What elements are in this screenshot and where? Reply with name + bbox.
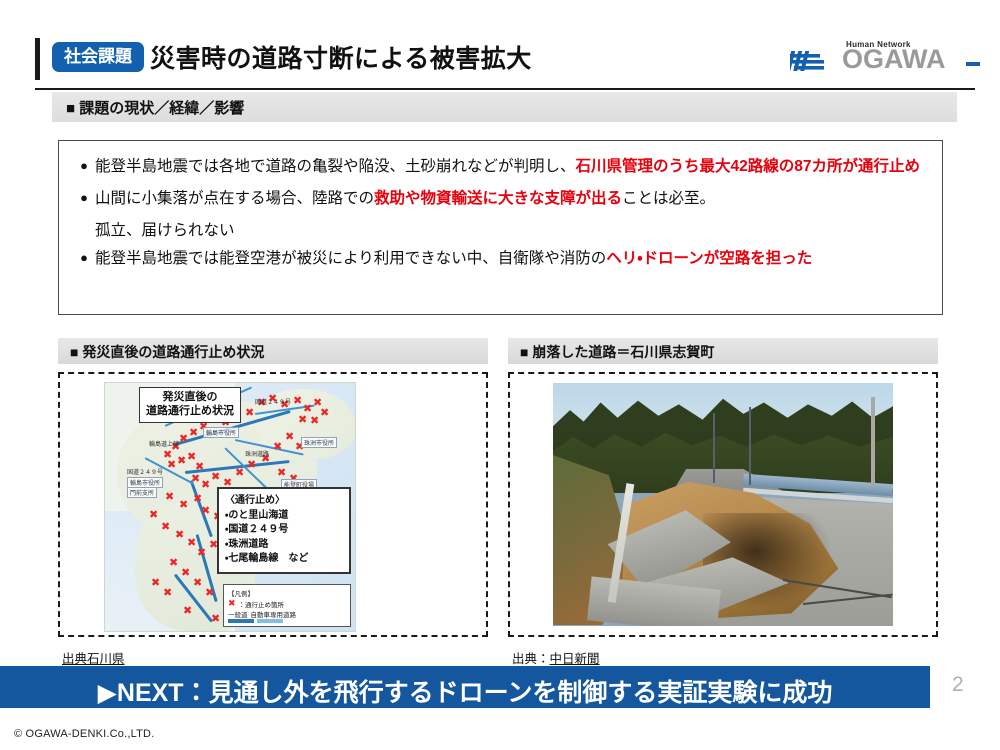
company-logo: Human Network OGAWA xyxy=(790,40,980,80)
logo-wordmark: OGAWA xyxy=(842,46,946,73)
map-legend-item: ・のと里山海道 xyxy=(225,509,343,524)
photo-utility-pole xyxy=(713,413,715,483)
map-title-line-2: 道路通行止め状況 xyxy=(146,405,234,419)
slide-header: 社会課題 災害時の道路寸断による被害拡大 Human Network OGAWA xyxy=(0,18,1000,74)
list-item: ● 山間に小集落が点在する場合、陸路での救助や物資輸送に大きな支障が出ることは必… xyxy=(73,185,933,213)
map-key-title: 【凡例】 xyxy=(228,588,346,598)
map-legend-title: 〈通行止め〉 xyxy=(225,494,343,509)
map-closure-marker xyxy=(205,589,214,598)
map-legend-item: ・珠洲道路 xyxy=(225,538,343,553)
map-closure-marker xyxy=(201,507,210,516)
header-category-badge: 社会課題 xyxy=(52,42,144,72)
map-closure-marker xyxy=(277,469,286,478)
map-closure-marker xyxy=(175,531,184,540)
map-closure-marker xyxy=(165,493,174,502)
right-panel-heading-text: ■ 崩落した道路＝石川県志賀町 xyxy=(520,342,714,362)
map-key-road-label-1: 一般道 xyxy=(228,609,248,619)
map-place-label: 珠洲市役所 xyxy=(301,437,337,448)
right-panel-heading-bar: ■ 崩落した道路＝石川県志賀町 xyxy=(508,338,938,364)
map-closure-marker xyxy=(181,569,190,578)
map-closure-marker xyxy=(193,579,202,588)
road-swatch-general-icon xyxy=(228,619,254,623)
map-route-label: 国道２４９号 xyxy=(255,397,291,406)
map-closure-marker xyxy=(179,435,188,444)
right-source-prefix: 出典： xyxy=(512,652,550,666)
bullet-marker: ● xyxy=(73,245,95,271)
photo-utility-pole xyxy=(749,407,751,485)
map-closure-marker xyxy=(303,405,312,414)
map-place-label: 門前支所 xyxy=(127,487,157,498)
right-image-frame xyxy=(508,372,938,637)
map-title-box: 発災直後の 道路通行止め状況 xyxy=(139,387,241,423)
collapsed-road-photo xyxy=(553,383,893,626)
bullet-text: 能登半島地震では能登空港が被災により利用できない中、自衛隊や消防のヘリ・ドローン… xyxy=(95,245,812,273)
header-accent-bar xyxy=(35,38,40,80)
map-closure-marker xyxy=(195,463,204,472)
map-closure-marker xyxy=(187,539,196,548)
map-closure-marker xyxy=(235,469,244,478)
bullet-text: 能登半島地震では各地で道路の亀裂や陥没、土砂崩れなどが判明し、石川県管理のうち最… xyxy=(95,153,920,181)
map-key-box: 【凡例】 ✖ ：通行止め箇所 一般道 自動車専用道路 xyxy=(223,584,351,627)
road-swatch-expressway-icon xyxy=(257,619,283,623)
next-banner-text: ▶NEXT：見通し外を飛行するドローンを制御する実証実験に成功 xyxy=(0,673,930,709)
map-route-label: 輪島道上線 xyxy=(149,439,179,448)
map-closure-marker xyxy=(167,461,176,470)
section-heading-text: ■ 課題の現状／経緯／影響 xyxy=(66,97,244,118)
right-source-caption: 出典：中日新聞 xyxy=(512,648,600,667)
bullet-marker: ● xyxy=(73,153,95,179)
bullet-continuation-text: 孤立、届けられない xyxy=(95,217,933,245)
photo-utility-pole xyxy=(871,397,875,487)
right-source-name: 中日新聞 xyxy=(550,652,600,666)
map-legend-item: ・七尾輪島線 など xyxy=(225,552,343,567)
map-closure-legend-box: 〈通行止め〉 ・のと里山海道 ・国道２４９号 ・珠洲道路 ・七尾輪島線 など xyxy=(217,487,351,574)
left-image-frame: 発災直後の 道路通行止め状況 輪島市役所 珠洲市役所 能登町役場 穴水町役場 輪… xyxy=(58,372,488,637)
map-closure-marker xyxy=(151,579,160,588)
map-closure-marker xyxy=(273,443,282,452)
left-source-text: 出典石川県 xyxy=(62,652,125,666)
map-closure-marker xyxy=(169,559,178,568)
next-banner: ▶NEXT：見通し外を飛行するドローンを制御する実証実験に成功 xyxy=(0,666,930,708)
left-panel: ■ 発災直後の道路通行止め状況 xyxy=(58,338,488,364)
map-closure-marker xyxy=(320,409,329,418)
bullet-segment-normal: 能登半島地震では能登空港が被災により利用できない中、自衛隊や消防の xyxy=(95,250,606,267)
map-closure-marker xyxy=(177,457,186,466)
bullet-segment-normal: 能登半島地震では各地で道路の亀裂や陥没、土砂崩れなどが判明し、 xyxy=(95,158,576,175)
header-divider xyxy=(35,88,975,90)
logo-dash-accent xyxy=(966,62,980,66)
bullet-segment-highlight: ヘリ・ドローンが空路を担った xyxy=(606,250,812,267)
map-route-label: 珠洲道路 xyxy=(245,449,269,458)
section-heading-bar: ■ 課題の現状／経緯／影響 xyxy=(52,92,957,122)
map-place-label: 輪島市役所 xyxy=(203,427,239,438)
bullet-segment-highlight: 石川県管理のうち最大42路線の87カ所が通行止め xyxy=(576,158,920,175)
map-closure-marker xyxy=(211,473,220,482)
map-closure-marker xyxy=(285,433,294,442)
map-closure-marker xyxy=(298,416,307,425)
map-closure-marker xyxy=(191,475,200,484)
bullet-segment-highlight: 救助や物資輸送に大きな支障が出る xyxy=(374,190,622,207)
bullet-segment-normal: 山間に小集落が点在する場合、陸路での xyxy=(95,190,374,207)
left-panel-heading-bar: ■ 発災直後の道路通行止め状況 xyxy=(58,338,488,364)
map-closure-marker xyxy=(211,615,220,624)
issue-summary-box: ● 能登半島地震では各地で道路の亀裂や陥没、土砂崩れなどが判明し、石川県管理のう… xyxy=(58,140,943,315)
copyright-text: © OGAWA-DENKI.Co.,LTD. xyxy=(14,728,154,740)
map-closure-marker xyxy=(179,501,188,510)
map-closure-marker xyxy=(163,589,172,598)
bullet-list: ● 能登半島地震では各地で道路の亀裂や陥没、土砂崩れなどが判明し、石川県管理のう… xyxy=(73,153,933,277)
list-item: ● 能登半島地震では各地で道路の亀裂や陥没、土砂崩れなどが判明し、石川県管理のう… xyxy=(73,153,933,181)
map-key-swatches xyxy=(228,619,346,623)
right-panel: ■ 崩落した道路＝石川県志賀町 xyxy=(508,338,938,364)
page-title: 災害時の道路寸断による被害拡大 xyxy=(150,39,532,75)
left-panel-heading-text: ■ 発災直後の道路通行止め状況 xyxy=(70,342,264,362)
map-closure-marker xyxy=(247,461,256,470)
ogawa-logo-mark xyxy=(790,48,832,74)
map-closure-marker xyxy=(201,481,210,490)
map-key-row-closure: ✖ ：通行止め箇所 xyxy=(228,598,346,609)
map-key-closure-label: ：通行止め箇所 xyxy=(239,599,285,609)
list-item: ● 能登半島地震では能登空港が被災により利用できない中、自衛隊や消防のヘリ・ドロ… xyxy=(73,245,933,273)
map-closure-marker xyxy=(149,511,158,520)
map-closure-marker xyxy=(310,417,319,426)
left-source-caption: 出典石川県 xyxy=(62,648,125,667)
road-closure-map-image: 発災直後の 道路通行止め状況 輪島市役所 珠洲市役所 能登町役場 穴水町役場 輪… xyxy=(104,382,356,632)
bullet-text: 山間に小集落が点在する場合、陸路での救助や物資輸送に大きな支障が出ることは必至。 xyxy=(95,185,715,213)
page-number: 2 xyxy=(952,673,964,697)
map-key-row-roads: 一般道 自動車専用道路 xyxy=(228,609,346,619)
map-closure-marker xyxy=(193,495,202,504)
map-closure-marker xyxy=(197,549,206,558)
bullet-marker: ● xyxy=(73,185,95,211)
slide: 社会課題 災害時の道路寸断による被害拡大 Human Network OGAWA… xyxy=(0,0,1000,750)
map-key-road-label-2: 自動車専用道路 xyxy=(251,609,297,619)
map-closure-marker xyxy=(245,409,254,418)
map-closure-marker xyxy=(189,429,198,438)
map-closure-marker xyxy=(293,397,302,406)
map-closure-marker xyxy=(161,523,170,532)
map-legend-item: ・国道２４９号 xyxy=(225,523,343,538)
bullet-segment-normal-tail: ことは必至。 xyxy=(622,190,715,207)
map-closure-marker xyxy=(183,607,192,616)
map-route-label: 国道２４９号 xyxy=(127,467,163,476)
map-title-line-1: 発災直後の xyxy=(146,391,234,405)
closure-x-icon: ✖ xyxy=(228,598,236,609)
